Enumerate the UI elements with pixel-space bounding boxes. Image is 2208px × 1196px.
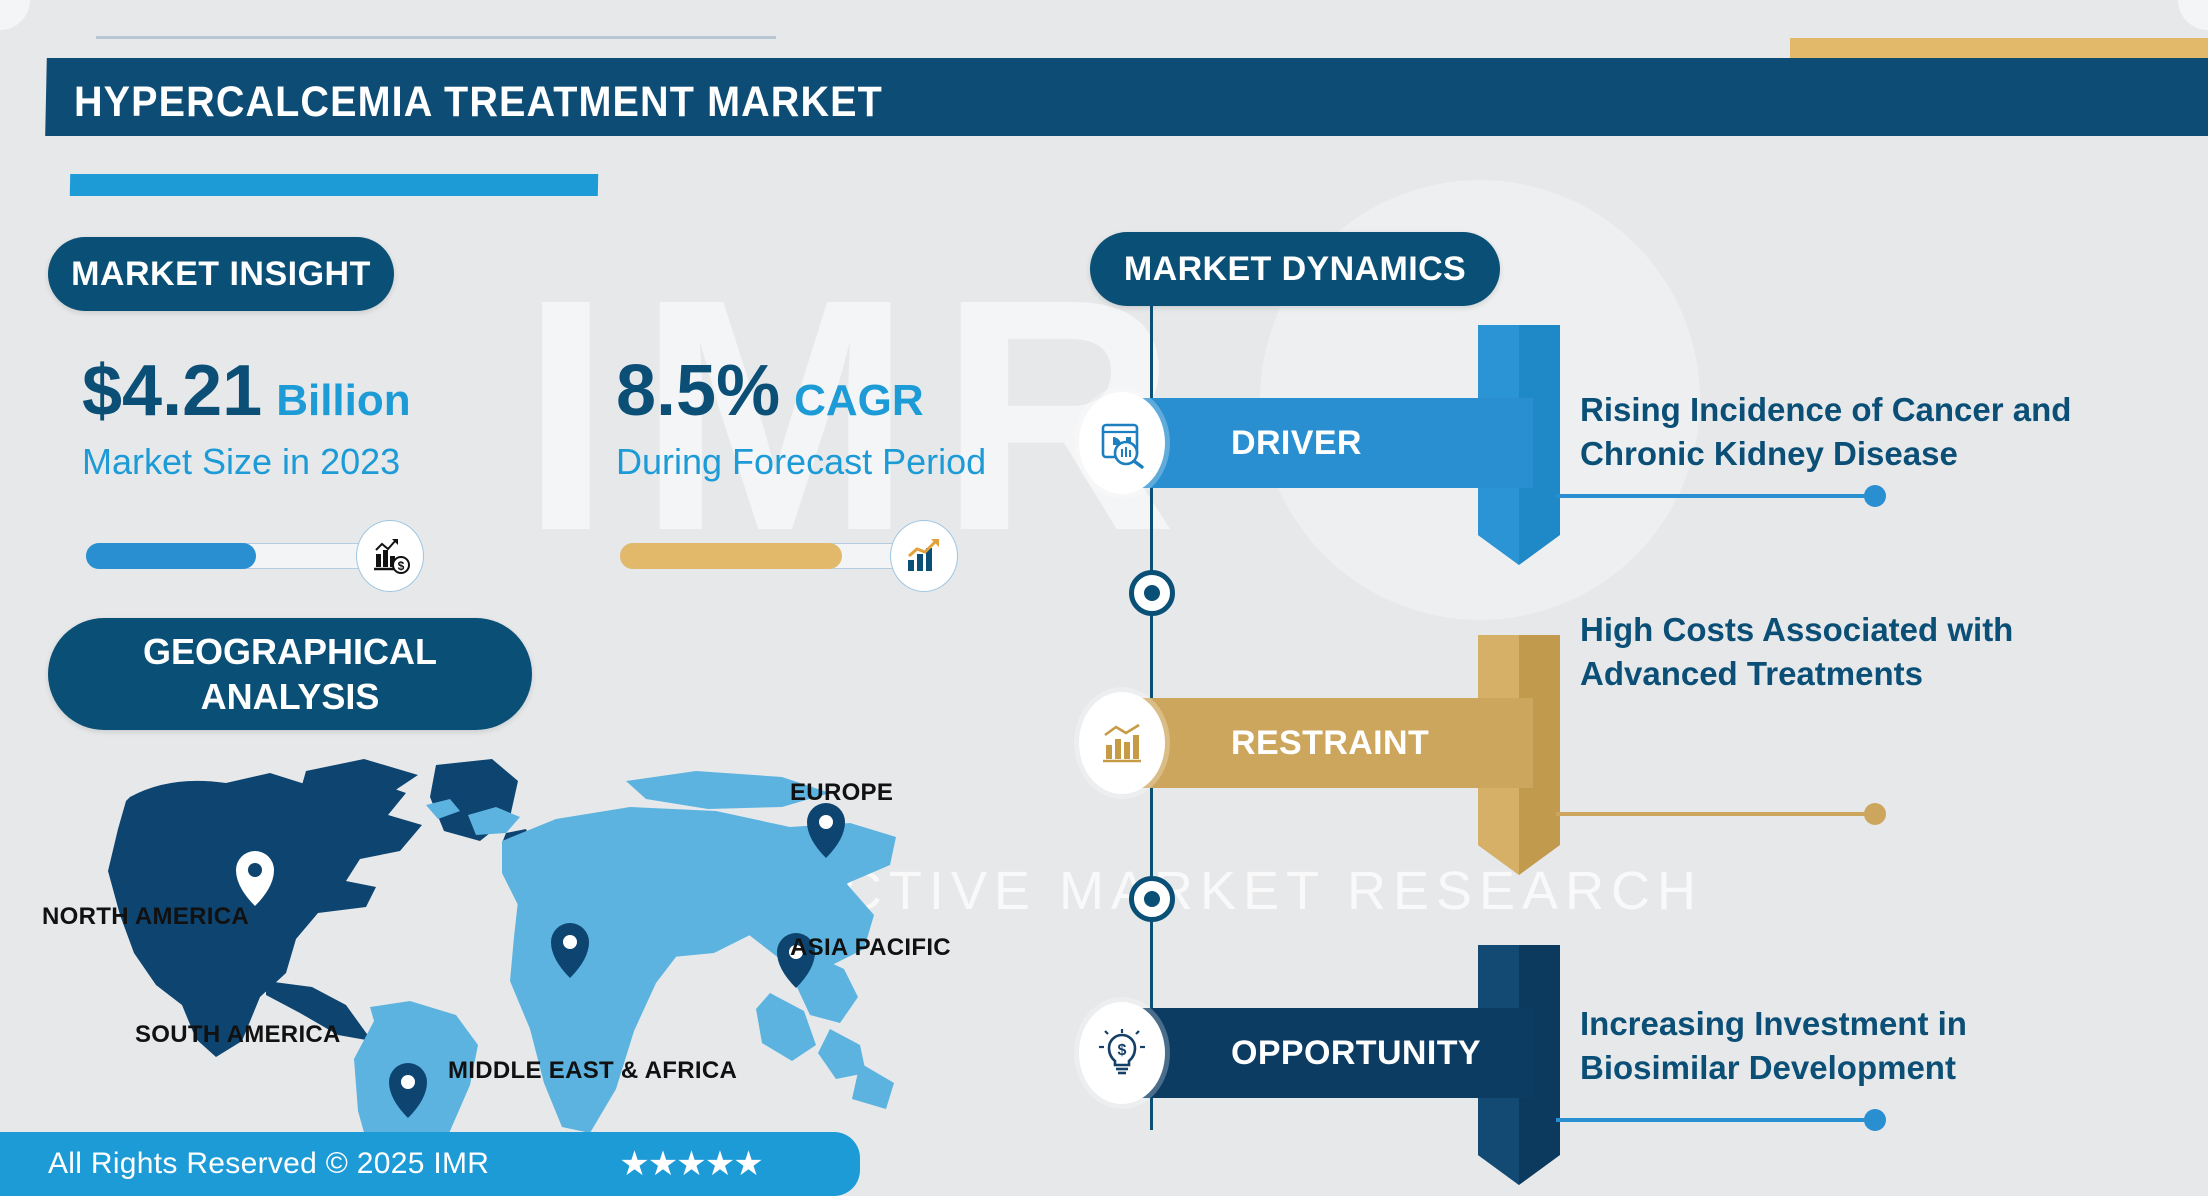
stat-market-size: $4.21 Billion Market Size in 2023 [82,355,411,483]
stat-caption: Market Size in 2023 [82,441,411,483]
restraint-underline [1556,812,1876,816]
driver-text: Rising Incidence of Cancer and Chronic K… [1580,388,2071,475]
stat-unit: CAGR [794,376,924,426]
restraint-text: High Costs Associated with Advanced Trea… [1580,608,2013,695]
map-label-north-america: NORTH AMERICA [42,903,249,931]
market-insight-pill: MARKET INSIGHT [48,237,394,311]
stat-cagr: 8.5% CAGR During Forecast Period [616,355,986,483]
header-thin-rule [96,36,776,39]
map-label-europe: EUROPE [790,779,893,807]
map-label-south-america: SOUTH AMERICA [135,1021,341,1049]
stat-value: 8.5% [616,355,780,427]
restraint-text-line1: High Costs Associated with [1580,608,2013,652]
progress-track [620,543,918,569]
declining-bar-chart-icon [1079,692,1165,794]
restraint-dot [1864,803,1886,825]
restraint-ribbon: RESTRAINT [1113,698,1533,788]
dynamics-node-1 [1129,570,1175,616]
cagr-progress [620,520,958,592]
driver-text-line1: Rising Incidence of Cancer and [1580,388,2071,432]
progress-track [86,543,384,569]
growth-chart-icon [890,520,958,592]
geographical-analysis-pill: GEOGRAPHICAL ANALYSIS [48,618,532,730]
driver-ribbon: DRIVER [1113,398,1533,488]
driver-label: DRIVER [1113,398,1533,488]
corner-top-right [2178,0,2208,30]
progress-fill [86,543,256,569]
progress-fill [620,543,842,569]
stat-caption: During Forecast Period [616,441,986,483]
opportunity-underline [1556,1118,1876,1122]
restraint-label: RESTRAINT [1113,698,1533,788]
driver-text-line2: Chronic Kidney Disease [1580,432,2071,476]
market-size-progress: $ [86,520,424,592]
page-title: HYPERCALCEMIA TREATMENT MARKET [74,78,883,127]
lightbulb-dollar-icon: $ [1079,1002,1165,1104]
stat-value: $4.21 [82,355,262,427]
geo-label-line2: ANALYSIS [201,674,380,719]
dynamics-node-2 [1129,876,1175,922]
corner-top-left [0,0,30,30]
world-map [70,745,910,1145]
map-label-asia-pacific: ASIA PACIFIC [790,934,951,962]
opportunity-text-line1: Increasing Investment in [1580,1002,1967,1046]
opportunity-text-line2: Biosimilar Development [1580,1046,1967,1090]
svg-text:$: $ [1118,1042,1127,1059]
infographic-canvas: IMR EFFECTIVE MARKET RESEARCH HYPERCALCE… [0,0,2208,1196]
footer-bar: All Rights Reserved © 2025 IMR ★★★★★ [0,1132,860,1196]
market-dynamics-pill: MARKET DYNAMICS [1090,232,1500,306]
opportunity-ribbon: OPPORTUNITY $ [1113,1008,1533,1098]
header-blue-accent [70,174,598,196]
driver-dot [1864,485,1886,507]
bar-chart-dollar-icon: $ [356,520,424,592]
analytics-search-icon [1079,392,1165,494]
opportunity-label: OPPORTUNITY [1113,1008,1533,1098]
geo-label-line1: GEOGRAPHICAL [143,629,437,674]
restraint-text-line2: Advanced Treatments [1580,652,2013,696]
opportunity-text: Increasing Investment in Biosimilar Deve… [1580,1002,1967,1089]
map-label-middle-east-africa: MIDDLE EAST & AFRICA [448,1057,737,1085]
driver-underline [1556,494,1876,498]
opportunity-dot [1864,1109,1886,1131]
rating-stars: ★★★★★ [619,1144,761,1184]
svg-text:$: $ [398,559,405,573]
stat-unit: Billion [276,376,410,426]
copyright-text: All Rights Reserved © 2025 IMR [48,1147,489,1181]
